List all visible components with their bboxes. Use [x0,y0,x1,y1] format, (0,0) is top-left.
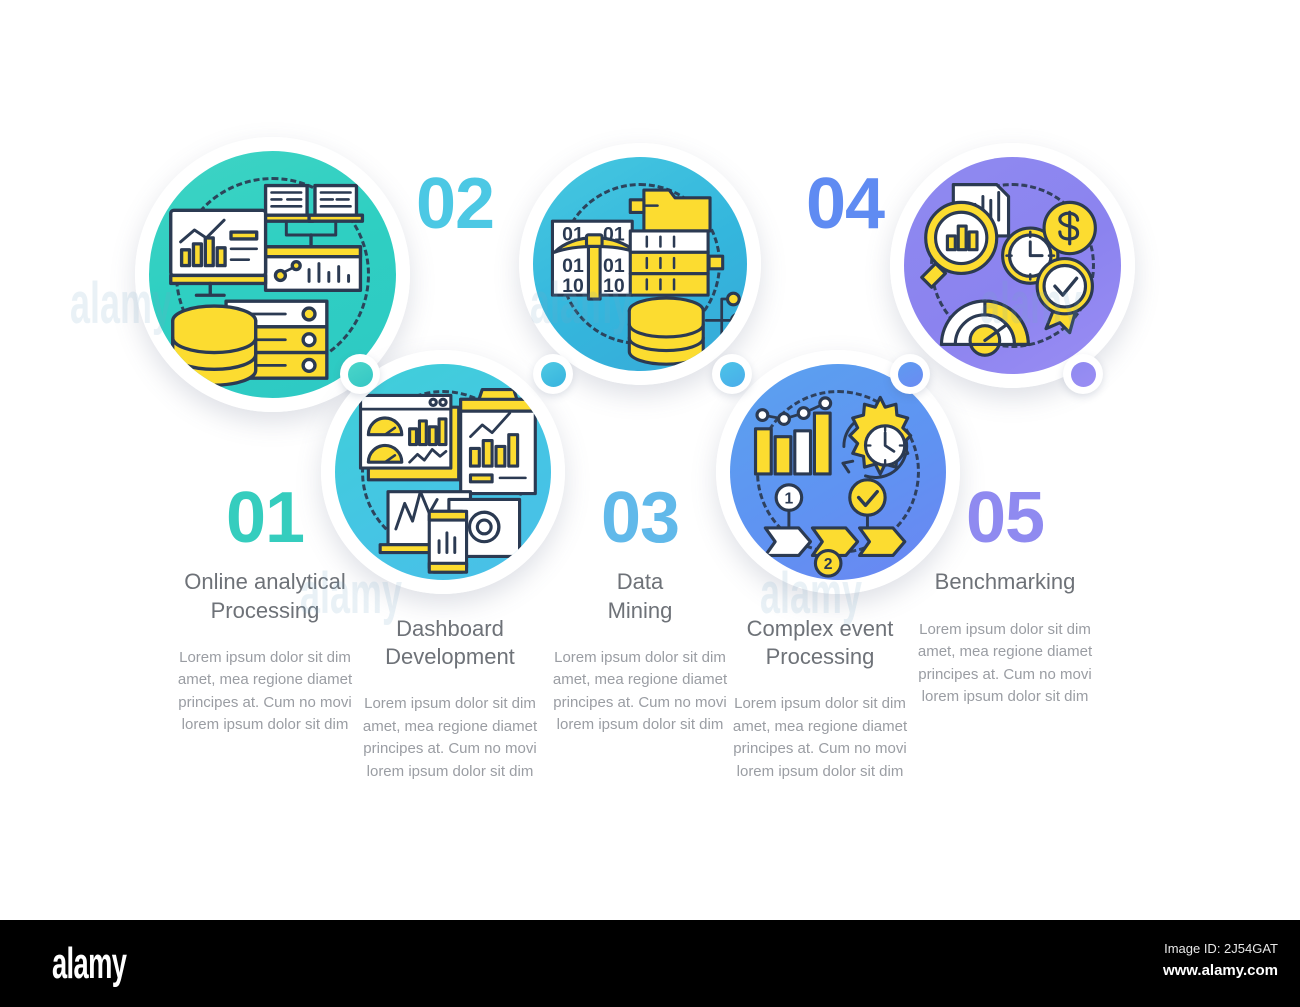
connector-node-3[interactable] [712,354,752,394]
step-title-1: Online analytical Processing [170,568,360,624]
alamy-watermark-bar: alamy Image ID: 2J54GAT www.alamy.com [0,920,1300,1007]
step-title-3: Data Mining [545,568,735,624]
step-number-5: 05 [910,484,1100,552]
connector-dot-4 [898,362,923,387]
svg-text:10: 10 [603,275,625,297]
step-body-4: Lorem ipsum dolor sit dim amet, mea regi… [722,693,918,783]
step-title-2-line2: Development [355,643,545,671]
step-title-3-line1: Data [545,568,735,596]
step-title-4-line1: Complex event [722,615,918,643]
step-title-5-line1: Benchmarking [910,568,1100,596]
connector-node-4[interactable] [890,354,930,394]
step-title-4-line2: Processing [722,643,918,671]
step-number-2: 02 [360,170,550,238]
step-number-3: 03 [545,484,735,552]
connector-dot-2 [541,362,566,387]
step-text-2: 02 [360,170,550,238]
step-body-2: Lorem ipsum dolor sit dim amet, mea regi… [355,693,545,783]
svg-text:01: 01 [562,255,584,277]
connector-dot-5 [1071,362,1096,387]
step-title-5: Benchmarking [910,568,1100,596]
image-id-label: Image ID: 2J54GAT [1163,938,1278,960]
svg-text:2: 2 [824,556,833,573]
step-title-2-line1: Dashboard [355,615,545,643]
step-text-1: 01 Online analytical Processing Lorem ip… [170,484,360,737]
step-title-1-line1: Online analytical [170,568,360,596]
step-title-4: Complex event Processing [722,615,918,671]
step-body-5: Lorem ipsum dolor sit dim amet, mea regi… [910,619,1100,709]
step-title-2: Dashboard Development [355,615,545,671]
step-text-3: 03 Data Mining Lorem ipsum dolor sit dim… [545,484,735,737]
step-text-4-body: Complex event Processing Lorem ipsum dol… [722,615,918,783]
step-title-3-line2: Mining [545,597,735,625]
step-text-2-body: Dashboard Development Lorem ipsum dolor … [355,615,545,783]
step-text-4: 04 [750,170,940,238]
step-text-5: 05 Benchmarking Lorem ipsum dolor sit di… [910,484,1100,709]
connector-dot-1 [348,362,373,387]
connector-node-2[interactable] [533,354,573,394]
step-title-1-line2: Processing [170,597,360,625]
alamy-url: www.alamy.com [1163,960,1278,983]
svg-text:1: 1 [785,490,794,507]
step-circle-2[interactable]: 01 01 01 01 10 10 [519,143,761,385]
svg-text:01: 01 [603,255,625,277]
step-body-1: Lorem ipsum dolor sit dim amet, mea regi… [170,647,360,737]
infographic-canvas: 01 01 01 01 10 10 [0,0,1300,1007]
step-number-4: 04 [750,170,940,238]
connector-node-5[interactable] [1063,354,1103,394]
step-number-1: 01 [170,484,360,552]
data-mining-pickaxe-binary-icon: 01 01 01 01 10 10 [533,157,747,371]
alamy-logo: alamy [52,942,126,986]
dashboard-charts-report-icon [335,364,551,580]
connector-node-1[interactable] [340,354,380,394]
connector-dot-3 [720,362,745,387]
svg-text:10: 10 [562,275,584,297]
alamy-meta: Image ID: 2J54GAT www.alamy.com [1163,938,1278,983]
step-body-3: Lorem ipsum dolor sit dim amet, mea regi… [545,647,735,737]
